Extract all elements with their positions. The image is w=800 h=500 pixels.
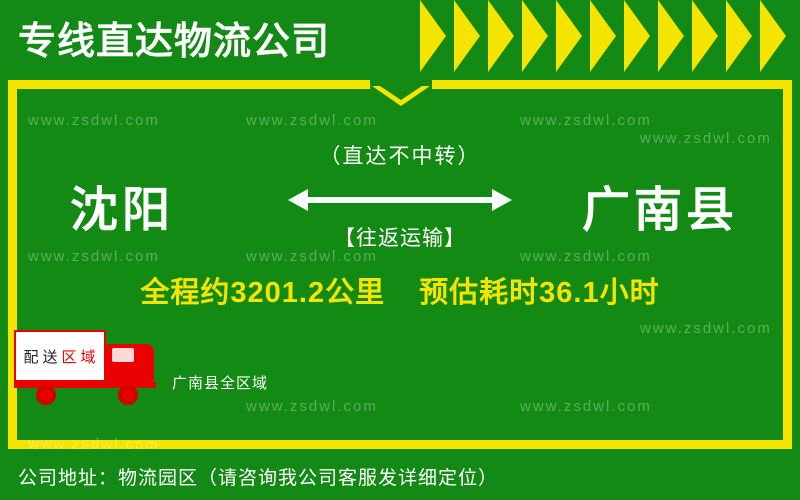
watermark-text: www.zsdwl.com [520, 112, 652, 129]
delivery-truck-icon: 配 送 区 域 [14, 330, 164, 410]
chevron-right-icon [692, 0, 718, 72]
chevron-right-icon [488, 0, 514, 72]
duration-value: 预估耗时36.1小时 [419, 269, 659, 311]
route-subtitle: （直达不中转） [0, 140, 800, 170]
chevron-right-icon [556, 0, 582, 72]
double-arrow-icon [288, 178, 512, 224]
distance-value: 全程约3201.2公里 [140, 269, 385, 311]
chevron-right-icon [420, 0, 446, 72]
footer-bar: 公司地址：物流园区（请咨询我公司客服发详细定位） [0, 452, 800, 500]
watermark-text: www.zsdwl.com [520, 398, 652, 415]
coverage-label: 广南县全区域 [172, 372, 268, 393]
header-banner: 专线直达物流公司 [0, 0, 800, 72]
truck-box-text: 配 送 区 域 [16, 332, 104, 380]
watermark-text: www.zsdwl.com [246, 112, 378, 129]
truck-box-char-3: 区 [62, 346, 78, 367]
route-stats: 全程约3201.2公里 预估耗时36.1小时 [17, 268, 783, 312]
truck-wheel [36, 385, 56, 405]
arrow-shaft [296, 197, 496, 203]
truck-box-char-1: 配 [23, 346, 39, 367]
frame-right-border [783, 80, 792, 449]
chevron-right-icon [726, 0, 752, 72]
chevron-right-icon [760, 0, 786, 72]
watermark-text: www.zsdwl.com [246, 398, 378, 415]
page-title: 专线直达物流公司 [18, 10, 330, 65]
truck-wheel [118, 385, 138, 405]
watermark-text: www.zsdwl.com [640, 320, 772, 337]
watermark-text: www.zsdwl.com [28, 436, 160, 453]
truck-box-char-2: 送 [42, 346, 58, 367]
chevron-right-icon [454, 0, 480, 72]
chevron-right-icon [624, 0, 650, 72]
company-address: 公司地址：物流园区（请咨询我公司客服发详细定位） [0, 463, 498, 490]
arrow-head-right [492, 189, 512, 211]
truck-cargo-box: 配 送 区 域 [14, 330, 106, 382]
chevron-right-icon [590, 0, 616, 72]
truck-box-char-4: 域 [81, 346, 97, 367]
truck-window [112, 348, 134, 362]
watermark-text: www.zsdwl.com [28, 112, 160, 129]
chevron-down-icon-inner [380, 86, 422, 100]
chevron-right-icon [658, 0, 684, 72]
chevron-right-icon [522, 0, 548, 72]
roundtrip-label: 【往返运输】 [0, 222, 800, 252]
